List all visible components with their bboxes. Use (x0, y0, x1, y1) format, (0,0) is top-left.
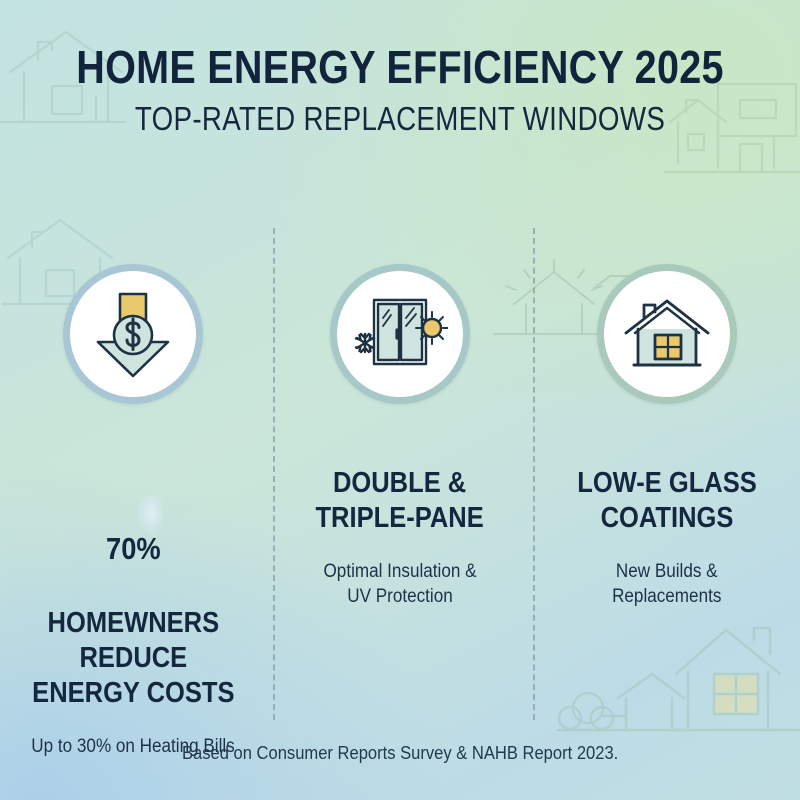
column-3-subtext: New Builds & Replacements (612, 559, 721, 609)
columns-container: 70% HOMEWNERS REDUCE ENERGY COSTS Up to … (0, 264, 800, 759)
column-2-subtext: Optimal Insulation & UV Protection (323, 559, 476, 609)
page-title: HOME ENERGY EFFICIENCY 2025 (56, 40, 744, 94)
column-low-e-glass: LOW-E GLASS COATINGS New Builds & Replac… (533, 264, 800, 759)
column-energy-savings: 70% HOMEWNERS REDUCE ENERGY COSTS Up to … (0, 264, 267, 759)
column-3-heading: LOW-E GLASS COATINGS (577, 466, 757, 537)
column-1-heading-text: HOMEWNERS REDUCE ENERGY COSTS (32, 607, 234, 710)
column-1-heading: 70% HOMEWNERS REDUCE ENERGY COSTS (16, 495, 251, 712)
double-pane-window-icon (330, 264, 470, 404)
page-subtitle: TOP-RATED REPLACEMENT WINDOWS (64, 100, 736, 138)
header: HOME ENERGY EFFICIENCY 2025 TOP-RATED RE… (0, 0, 800, 138)
footer-source-note: Based on Consumer Reports Survey & NAHB … (0, 743, 800, 764)
stat-value-percent: 70% (16, 530, 251, 568)
house-window-icon (597, 264, 737, 404)
infographic-canvas: HOME ENERGY EFFICIENCY 2025 TOP-RATED RE… (0, 0, 800, 800)
column-2-heading: DOUBLE & TRIPLE-PANE (316, 466, 484, 537)
footer-source-text: Based on Consumer Reports Survey & NAHB … (182, 743, 618, 764)
column-pane-technology: DOUBLE & TRIPLE-PANE Optimal Insulation … (267, 264, 534, 759)
money-down-arrow-icon (63, 264, 203, 404)
